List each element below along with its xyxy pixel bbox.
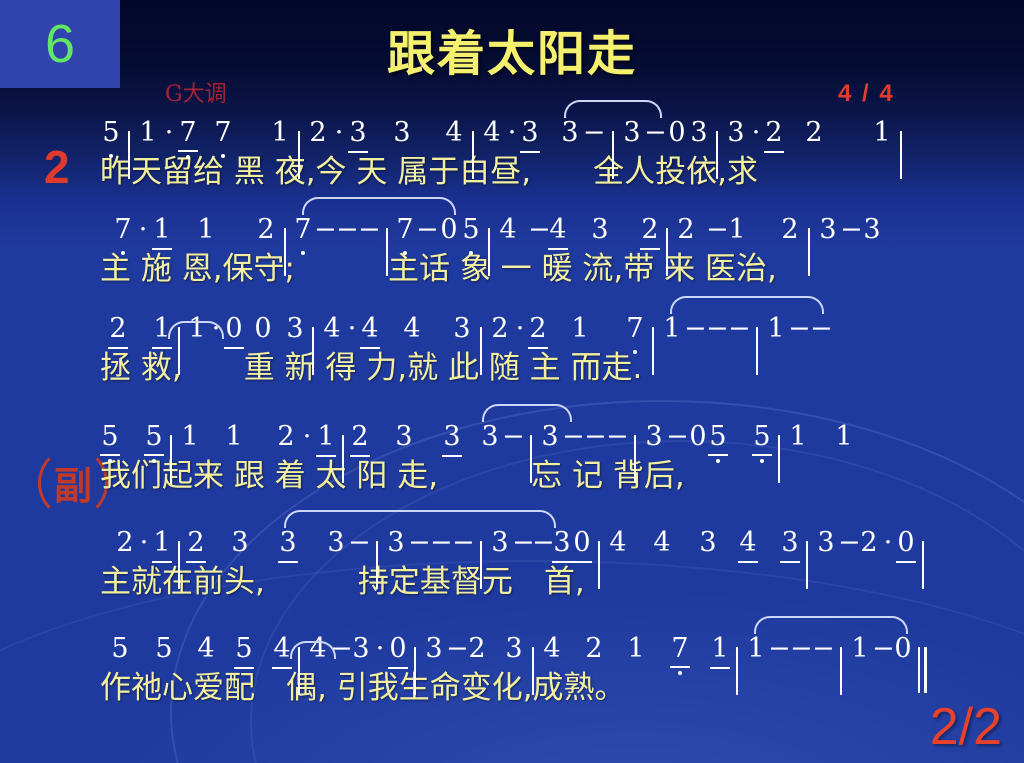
music-system-6: 554544−3·03−23421711−−−1−0 作祂心爱配 偶, 引我生命… (100, 632, 980, 710)
key-signature-label: G大调 (165, 76, 227, 108)
music-system-3: 211·0034·4432·2171−−−1−− 拯 救, 重 新 得 力,就 … (100, 312, 980, 390)
page-title: 跟着太阳走 (0, 14, 1024, 84)
note-row-6: 554544−3·03−23421711−−−1−0 (100, 632, 980, 668)
chorus-marker: 副 (38, 447, 108, 519)
lyric-row-1: 昨天留给 黑 夜,今 天 属于白昼, 全人投依,求 (100, 152, 980, 194)
music-system-4: 55112·12333−3−−−3−05511 我们起来 跟 着 太 阳 走, … (100, 420, 980, 498)
note-row-5: 2·12333−3−−−3−−30443433−2·0 (100, 526, 980, 562)
lyric-row-4: 我们起来 跟 着 太 阳 走, 忘 记 背后, (100, 456, 980, 498)
lyric-row-3: 拯 救, 重 新 得 力,就 此 随 主 而走. (100, 348, 980, 390)
note-row-1: 51·7712·3344·33−3−033·221 (100, 116, 980, 152)
lyric-row-5: 主就在前头, 持定基督元 首, (100, 562, 980, 604)
note-row-2: 7·1127−−−7−054−4322−123−3 (100, 213, 980, 249)
note-row-4: 55112·12333−3−−−3−05511 (100, 420, 980, 456)
slide-canvas: 6 跟着太阳走 G大调 4 / 4 2 副 51·7712·3344·33−3−… (0, 0, 1024, 763)
time-signature-label: 4 / 4 (838, 80, 895, 108)
lyric-row-2: 主 施 恩,保守; 主话 象 一 暖 流,带 来 医治, (100, 249, 980, 291)
music-system-1: 51·7712·3344·33−3−033·221 昨天留给 黑 夜,今 天 属… (100, 116, 980, 194)
page-number: 2/2 (930, 697, 1002, 757)
music-system-5: 2·12333−3−−−3−−30443433−2·0 主就在前头, 持定基督元… (100, 526, 980, 604)
music-system-2: 7·1127−−−7−054−4322−123−3 主 施 恩,保守; 主话 象… (100, 213, 980, 291)
lyric-row-6: 作祂心爱配 偶, 引我生命变化,成熟。 (100, 668, 980, 710)
verse-number-marker: 2 (44, 140, 70, 194)
note-row-3: 211·0034·4432·2171−−−1−− (100, 312, 980, 348)
chorus-marker-label: 副 (38, 455, 108, 510)
